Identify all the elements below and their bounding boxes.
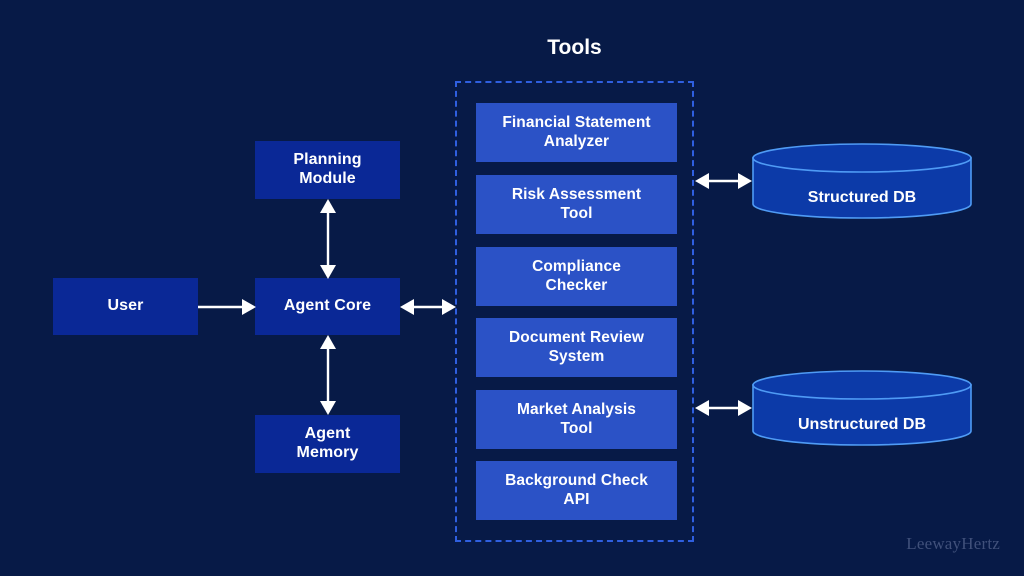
watermark-logo: LeewayHertz [906, 534, 1000, 554]
tool-node-financial-statement-analyzer[interactable]: Financial Statement Analyzer [476, 103, 677, 162]
tool-node-background-check-api[interactable]: Background Check API [476, 461, 677, 520]
arrow-agent-core-planning-module [317, 199, 339, 279]
tool-node-market-analysis-tool[interactable]: Market Analysis Tool [476, 390, 677, 449]
tool-node-compliance-checker[interactable]: Compliance Checker [476, 247, 677, 306]
diagram-canvas: Tools Financial Statement Analyzer Risk … [0, 0, 1024, 576]
arrow-tools-unstructured-db [695, 397, 752, 419]
database-unstructured-db[interactable]: Unstructured DB [752, 370, 972, 446]
arrow-agent-core-tools [400, 296, 456, 318]
node-agent-core[interactable]: Agent Core [255, 278, 400, 335]
cylinder-icon [752, 143, 972, 219]
tools-group-title: Tools [455, 36, 694, 60]
database-structured-db[interactable]: Structured DB [752, 143, 972, 219]
cylinder-icon [752, 370, 972, 446]
arrow-tools-structured-db [695, 170, 752, 192]
node-agent-memory[interactable]: Agent Memory [255, 415, 400, 473]
node-user[interactable]: User [53, 278, 198, 335]
arrow-agent-core-agent-memory [317, 335, 339, 415]
tool-node-risk-assessment-tool[interactable]: Risk Assessment Tool [476, 175, 677, 234]
tool-node-document-review-system[interactable]: Document Review System [476, 318, 677, 377]
node-planning-module[interactable]: Planning Module [255, 141, 400, 199]
arrow-user-to-agent-core [198, 296, 256, 318]
